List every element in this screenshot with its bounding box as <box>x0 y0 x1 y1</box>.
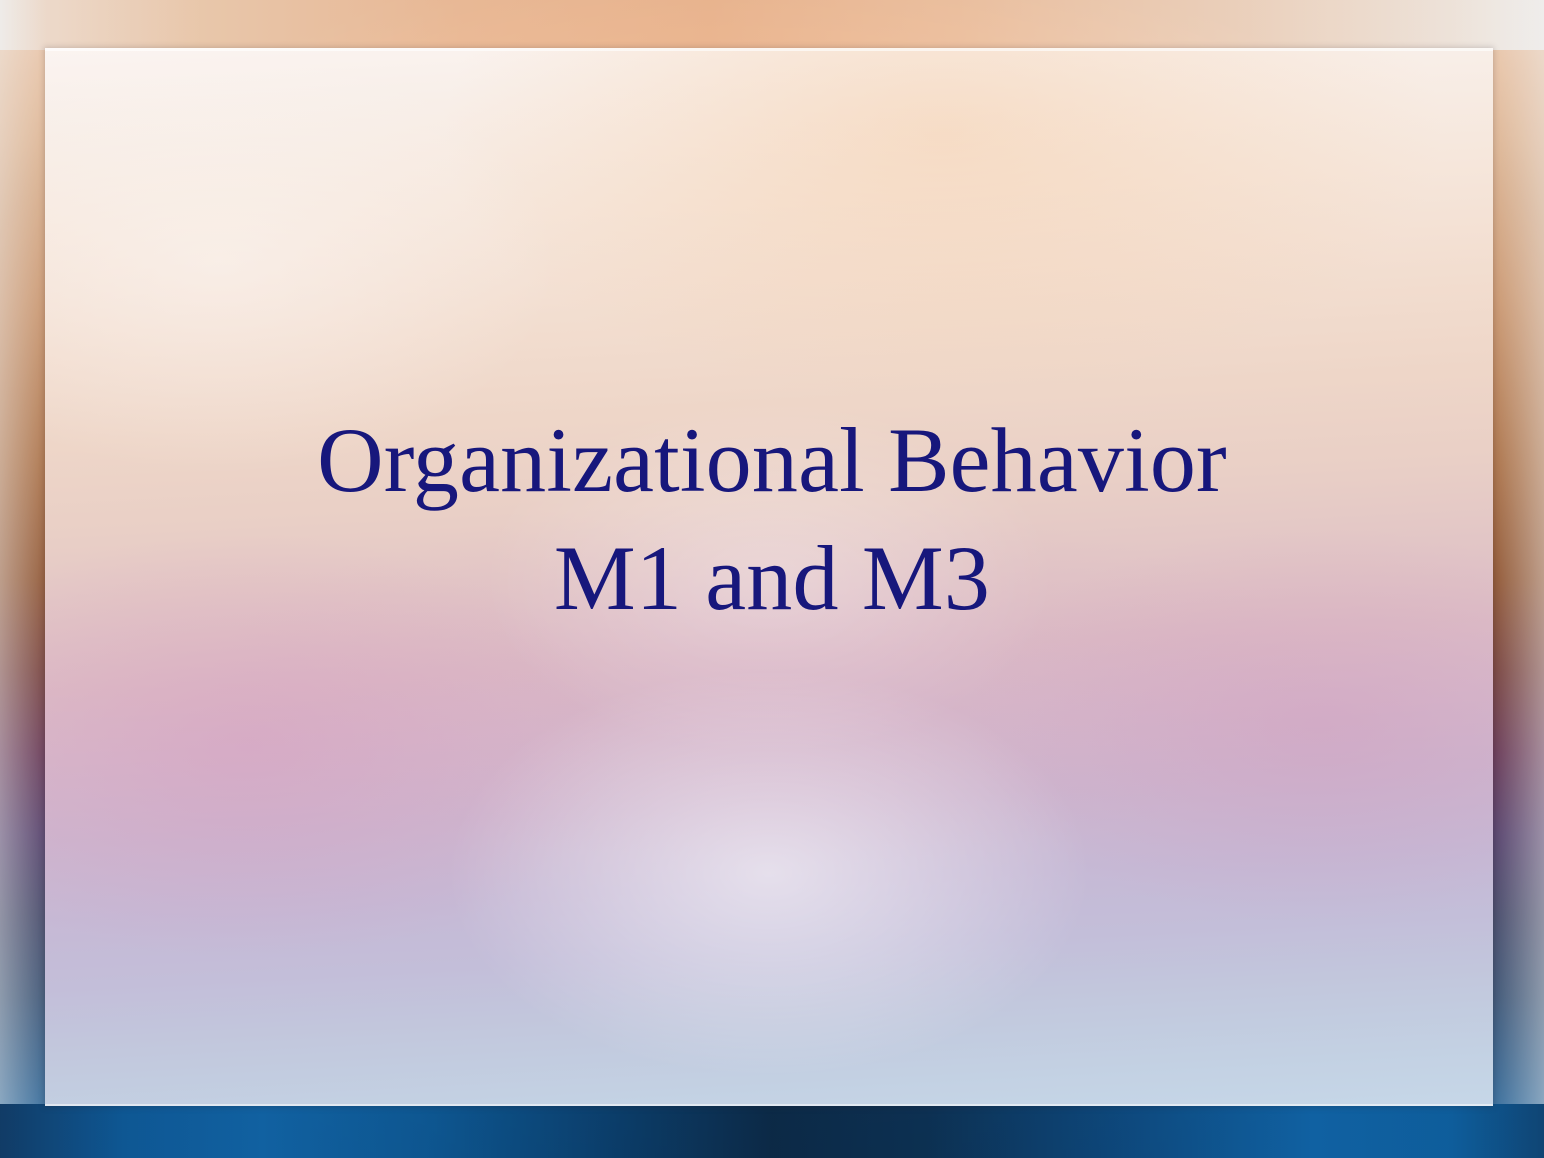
slide-canvas: Organizational Behavior M1 and M3 <box>0 0 1544 1158</box>
slide-title-line-2: M1 and M3 <box>60 520 1484 638</box>
panel-top-highlight <box>45 48 1493 51</box>
slide-border-top-band <box>0 0 1544 50</box>
slide-title-line-1: Organizational Behavior <box>60 402 1484 520</box>
panel-bottom-highlight <box>45 1104 1493 1106</box>
slide-border-bottom-band <box>0 1104 1544 1158</box>
slide-title: Organizational Behavior M1 and M3 <box>0 402 1544 638</box>
